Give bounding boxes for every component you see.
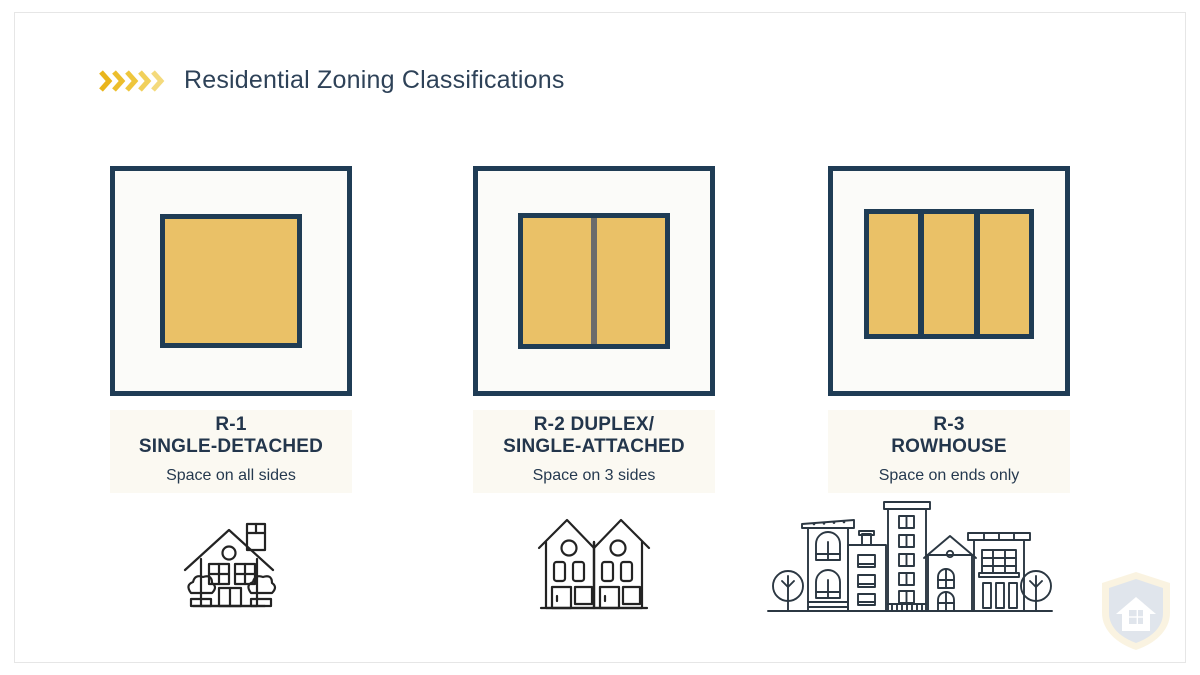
caption-r1: R-1 SINGLE-DETACHED Space on all sides xyxy=(110,410,352,493)
building-unit xyxy=(869,214,918,334)
zoning-code: R-2 DUPLEX/ xyxy=(473,414,715,436)
building-unit xyxy=(924,214,973,334)
zoning-code: R-1 xyxy=(110,414,352,436)
page-title: Residential Zoning Classifications xyxy=(184,66,565,95)
rowhouse-cityscape-icon xyxy=(762,498,1058,623)
zoning-type: ROWHOUSE xyxy=(828,436,1070,458)
zoning-type: SINGLE-ATTACHED xyxy=(473,436,715,458)
zoning-code: R-3 xyxy=(828,414,1070,436)
building-unit xyxy=(597,218,665,344)
slide-header: Residential Zoning Classifications xyxy=(98,66,565,95)
zoning-note: Space on 3 sides xyxy=(473,467,715,485)
lot-diagram-r1 xyxy=(110,166,352,396)
zoning-note: Space on ends only xyxy=(828,467,1070,485)
icon-slot-r1 xyxy=(110,498,352,618)
single-house-icon xyxy=(171,506,291,618)
chevron-group-icon xyxy=(98,68,166,94)
zoning-note: Space on all sides xyxy=(110,467,352,485)
duplex-house-icon xyxy=(531,506,657,618)
caption-r3: R-3 ROWHOUSE Space on ends only xyxy=(828,410,1070,493)
lot-diagram-r3 xyxy=(828,166,1070,396)
zoning-type: SINGLE-DETACHED xyxy=(110,436,352,458)
lot-diagram-r2 xyxy=(473,166,715,396)
building-unit xyxy=(523,218,591,344)
building-block xyxy=(518,213,670,349)
icon-slot-r2 xyxy=(473,498,715,618)
zoning-column-r2: R-2 DUPLEX/ SINGLE-ATTACHED Space on 3 s… xyxy=(473,166,715,493)
shield-house-logo xyxy=(1098,569,1174,653)
zoning-column-r1: R-1 SINGLE-DETACHED Space on all sides xyxy=(110,166,352,493)
building-unit xyxy=(160,214,302,348)
icon-slot-r3 xyxy=(760,498,1060,623)
zoning-column-r3: R-3 ROWHOUSE Space on ends only xyxy=(828,166,1070,493)
slide-canvas: Residential Zoning Classifications R-1 S… xyxy=(0,0,1200,675)
building-block xyxy=(864,209,1034,339)
caption-r2: R-2 DUPLEX/ SINGLE-ATTACHED Space on 3 s… xyxy=(473,410,715,493)
building-unit xyxy=(980,214,1029,334)
